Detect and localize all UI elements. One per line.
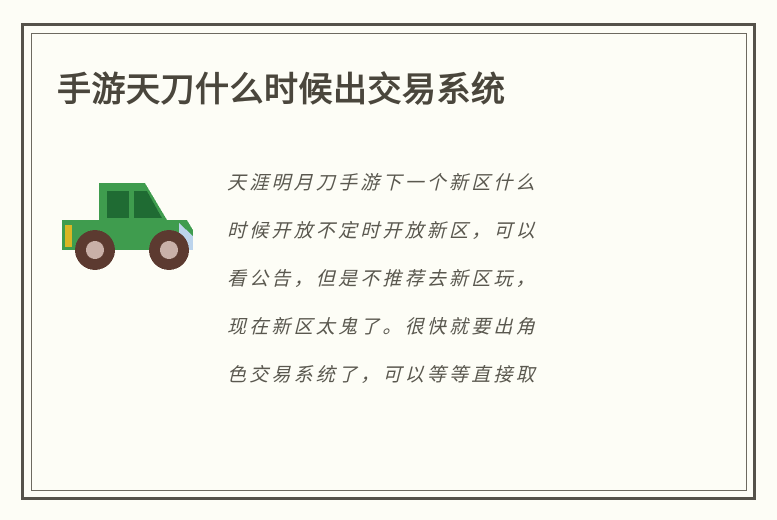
article-line: 时候开放不定时开放新区，可以 <box>227 208 647 256</box>
page-title: 手游天刀什么时候出交易系统 <box>57 68 697 112</box>
article-line: 现在新区太鬼了。很快就要出角 <box>227 304 647 352</box>
article-line: 看公告，但是不推荐去新区玩， <box>227 256 647 304</box>
car-illustration <box>57 168 207 278</box>
green-pickup-truck-icon <box>57 168 207 278</box>
article-body: 天涯明月刀手游下一个新区什么 时候开放不定时开放新区，可以 看公告，但是不推荐去… <box>227 160 647 400</box>
article-line: 天涯明月刀手游下一个新区什么 <box>227 160 647 208</box>
article-content: 天涯明月刀手游下一个新区什么 时候开放不定时开放新区，可以 看公告，但是不推荐去… <box>57 160 657 420</box>
article-page: 手游天刀什么时候出交易系统 <box>0 0 777 520</box>
article-line: 色交易系统了，可以等等直接取 <box>227 352 647 400</box>
